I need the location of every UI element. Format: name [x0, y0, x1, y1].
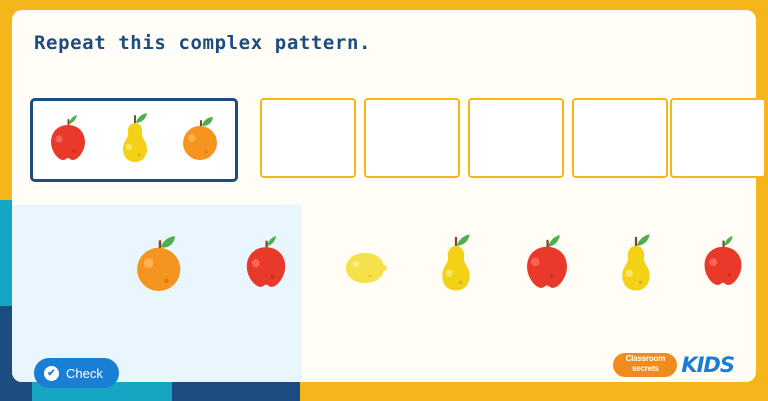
activity-card: Repeat this complex pattern. — [12, 10, 756, 382]
classroom-secrets-kids-logo: Classroom secrets KIDS — [613, 350, 734, 380]
answer-box[interactable] — [468, 98, 564, 178]
pear-icon[interactable] — [612, 279, 660, 298]
fruit-bank-item[interactable] — [612, 232, 672, 312]
fruit-bank-item[interactable] — [432, 232, 492, 312]
pattern-row — [22, 88, 746, 188]
answer-box[interactable] — [670, 98, 766, 178]
fruit-bank-item[interactable] — [520, 232, 580, 312]
pattern-model — [30, 98, 238, 182]
answer-box[interactable] — [364, 98, 460, 178]
activity-screen: Repeat this complex pattern. — [0, 0, 768, 401]
classroom-secrets-badge: Classroom secrets — [613, 350, 677, 380]
apple-icon[interactable] — [698, 275, 748, 294]
apple-icon[interactable] — [240, 277, 292, 296]
orange-icon[interactable] — [179, 114, 223, 166]
lemon-icon[interactable] — [342, 273, 388, 292]
fruit-bank-item[interactable] — [698, 232, 758, 312]
question-text: Repeat this complex pattern. — [34, 32, 371, 54]
logo-line2: secrets — [618, 364, 672, 373]
check-button[interactable]: ✔ Check — [34, 358, 119, 388]
fruit-bank-item[interactable] — [132, 232, 192, 312]
pear-icon[interactable] — [114, 111, 156, 169]
check-icon: ✔ — [44, 366, 59, 381]
answer-box[interactable] — [572, 98, 668, 178]
fruit-bank-item[interactable] — [240, 232, 300, 312]
apple-icon[interactable] — [45, 113, 91, 167]
logo-kids-text: KIDS — [681, 353, 734, 377]
fruit-bank-item[interactable] — [342, 248, 402, 328]
fruit-bank — [132, 232, 752, 312]
orange-icon[interactable] — [132, 279, 188, 298]
logo-line1: Classroom — [618, 354, 672, 363]
answer-box[interactable] — [260, 98, 356, 178]
pear-icon[interactable] — [432, 279, 480, 298]
check-button-label: Check — [66, 366, 103, 381]
apple-icon[interactable] — [520, 277, 574, 296]
